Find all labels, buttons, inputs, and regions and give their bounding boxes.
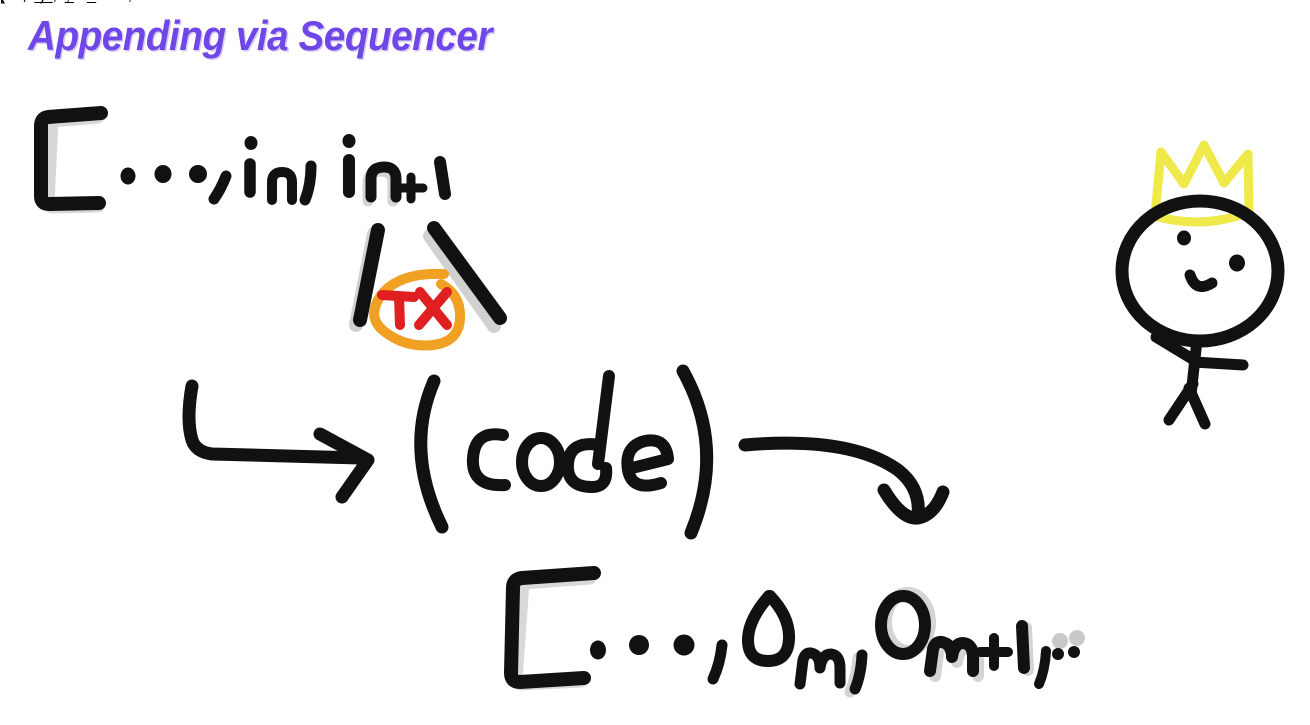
- slide-canvas: Appending via Sequencer: [0, 0, 1310, 725]
- code-close-paren: [683, 371, 707, 533]
- input-ellipsis: [121, 165, 208, 185]
- elbow-arrow-to-code: [189, 386, 368, 497]
- output-array-label: [ ..., O_m, O_m+1, ...: [0, 0, 150, 4]
- code-letter-c: [473, 434, 505, 485]
- input-comma-2: [305, 166, 311, 200]
- output-array-group: [ ..., O_m, O_m+1, ...: [0, 0, 1085, 692]
- sequencer-king-figure[interactable]: [1122, 145, 1278, 424]
- tx-circle-icon: [374, 274, 460, 346]
- right-arm: [1194, 362, 1243, 365]
- curved-arrow-to-output: [745, 443, 943, 518]
- code-letter-e: [627, 440, 668, 485]
- smile-icon: [1190, 275, 1212, 287]
- output-ellipsis: [590, 635, 695, 660]
- input-subscript-1-one: [440, 162, 445, 194]
- input-open-bracket-shadow: [48, 117, 98, 207]
- output-subscript-1-one: [1022, 626, 1024, 668]
- input-subscript-0: [272, 172, 292, 200]
- input-subscript-1-n: [371, 167, 396, 197]
- output-open-bracket-shadow: [516, 578, 590, 684]
- right-leg: [1189, 388, 1205, 424]
- elbow-arrow-head: [320, 434, 368, 497]
- output-item-1: [881, 593, 1028, 676]
- code-letter-o: [522, 438, 560, 486]
- output-item-0: [748, 596, 840, 684]
- input-subscript-1-plus: [400, 177, 423, 199]
- output-comma-3: [1039, 651, 1046, 684]
- output-subscript-1-plus: [980, 638, 1008, 666]
- code-open-paren: [421, 381, 442, 527]
- whiteboard-ink-layer: [ ..., i_n, i_n+1 TX: [0, 0, 1310, 725]
- input-item-0: [245, 136, 293, 200]
- input-array-group: [ ..., i_n, i_n+1: [0, 0, 445, 207]
- left-eye-icon: [1177, 231, 1191, 246]
- input-item-1: [343, 134, 446, 201]
- output-comma-1: [713, 645, 722, 679]
- right-eye-icon: [1229, 255, 1245, 272]
- input-comma-1: [214, 176, 226, 199]
- output-subscript-0: [800, 653, 840, 684]
- output-subscript-1-m: [930, 642, 973, 671]
- output-trailing-ellipsis: [1052, 630, 1085, 660]
